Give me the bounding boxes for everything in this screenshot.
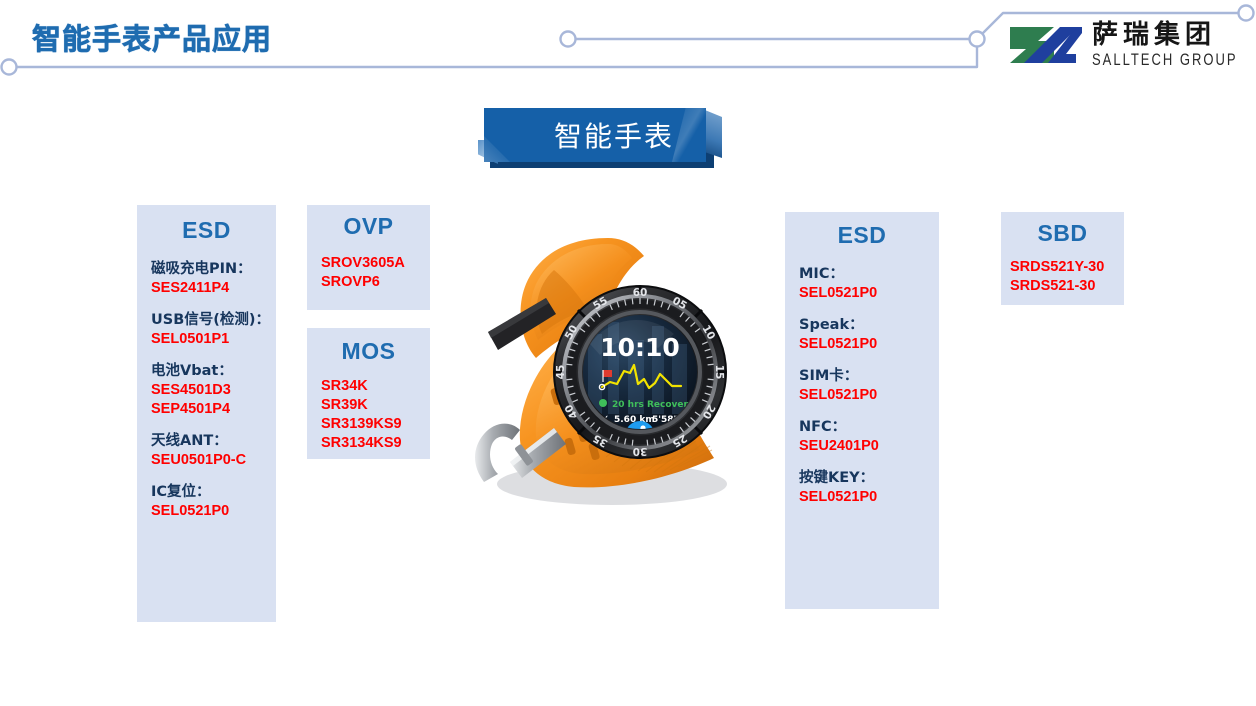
part-number: SEL0521P0 [151, 502, 276, 521]
panel-body: SROV3605A SROVP6 [307, 240, 430, 292]
panel-body: MIC： SEL0521P0 Speak： SEL0521P0 SIM卡： SE… [785, 249, 939, 507]
svg-text:30: 30 [633, 445, 648, 457]
part-group-label: USB信号(检测)： [151, 311, 276, 330]
panel-body: 磁吸充电PIN： SES2411P4 USB信号(检测)： SEL0501P1 … [137, 244, 276, 521]
part-number: SEL0501P1 [151, 330, 276, 349]
part-group-label: 磁吸充电PIN： [151, 260, 276, 279]
panel-title: OVP [307, 205, 430, 240]
part-number: SR34K [321, 377, 430, 396]
part-number: SR3139KS9 [321, 415, 430, 434]
part-number: SEU0501P0-C [151, 451, 276, 470]
svg-text:15: 15 [713, 365, 725, 380]
part-number: SEL0521P0 [799, 386, 939, 405]
deco-node-junction [970, 32, 985, 47]
part-group: 磁吸充电PIN： SES2411P4 [151, 260, 276, 298]
part-group-label: 天线ANT： [151, 432, 276, 451]
part-number: SEU2401P0 [799, 437, 939, 456]
logo-name-en: SALLTECH GROUP [1092, 50, 1242, 70]
watch-face-flag [603, 370, 612, 377]
panel-title: ESD [785, 212, 939, 249]
smartwatch-image: 60 05 10 15 20 25 30 35 40 45 50 55 [462, 222, 752, 522]
part-number: SRDS521Y-30 [1010, 258, 1124, 277]
part-group: SROV3605A SROVP6 [321, 254, 430, 292]
part-group: MIC： SEL0521P0 [799, 265, 939, 303]
part-number: SEL0521P0 [799, 284, 939, 303]
page-title: 智能手表产品应用 [32, 16, 272, 58]
panel-esd-right: ESD MIC： SEL0521P0 Speak： SEL0521P0 SIM卡… [785, 212, 939, 609]
part-group-label: Speak： [799, 316, 939, 335]
part-number: SROV3605A [321, 254, 430, 273]
panel-sbd: SBD SRDS521Y-30 SRDS521-30 [1001, 212, 1124, 305]
part-number: SES2411P4 [151, 279, 276, 298]
deco-node-right [1239, 6, 1254, 21]
part-group-label: IC复位： [151, 483, 276, 502]
deco-node-middle [561, 32, 576, 47]
panel-title: ESD [137, 205, 276, 244]
part-group: NFC： SEU2401P0 [799, 418, 939, 456]
part-group-label: MIC： [799, 265, 939, 284]
part-number: SES4501D3 [151, 381, 276, 400]
part-number: SEP4501P4 [151, 400, 276, 419]
part-group: SRDS521Y-30 SRDS521-30 [1010, 258, 1124, 296]
slide-root: 智能手表产品应用 萨瑞集团 SALLTECH GROUP 智能手表 ESD 磁 [0, 0, 1256, 706]
part-group: Speak： SEL0521P0 [799, 316, 939, 354]
part-group: SR34K SR39K SR3139KS9 SR3134KS9 [321, 377, 430, 453]
logo-name-cn: 萨瑞集团 [1092, 20, 1242, 50]
part-group: IC复位： SEL0521P0 [151, 483, 276, 521]
section-banner: 智能手表 [478, 100, 723, 172]
panel-mos: MOS SR34K SR39K SR3139KS9 SR3134KS9 [307, 328, 430, 459]
watch-face-recovery-icon [599, 399, 607, 407]
part-group-label: 电池Vbat： [151, 362, 276, 381]
part-group-label: 按键KEY： [799, 469, 939, 488]
svg-text:60: 60 [633, 287, 648, 299]
svg-text:45: 45 [555, 365, 567, 380]
part-group: 按键KEY： SEL0521P0 [799, 469, 939, 507]
part-number: SEL0521P0 [799, 335, 939, 354]
panel-body: SR34K SR39K SR3139KS9 SR3134KS9 [307, 365, 430, 453]
panel-title: SBD [1001, 212, 1124, 247]
panel-esd-left: ESD 磁吸充电PIN： SES2411P4 USB信号(检测)： SEL050… [137, 205, 276, 622]
part-number: SRDS521-30 [1010, 277, 1124, 296]
part-group-label: NFC： [799, 418, 939, 437]
part-group: USB信号(检测)： SEL0501P1 [151, 311, 276, 349]
panel-body: SRDS521Y-30 SRDS521-30 [1001, 247, 1124, 296]
part-number: SEL0521P0 [799, 488, 939, 507]
part-group: 电池Vbat： SES4501D3 SEP4501P4 [151, 362, 276, 419]
banner-label: 智能手表 [484, 108, 706, 162]
part-number: SR3134KS9 [321, 434, 430, 453]
panel-title: MOS [307, 328, 430, 365]
panel-ovp: OVP SROV3605A SROVP6 [307, 205, 430, 310]
part-group-label: SIM卡： [799, 367, 939, 386]
part-group: 天线ANT： SEU0501P0-C [151, 432, 276, 470]
part-number: SR39K [321, 396, 430, 415]
part-number: SROVP6 [321, 273, 430, 292]
deco-node-left [2, 60, 17, 75]
watch-face-flag-pole [602, 370, 603, 382]
company-logo: 萨瑞集团 SALLTECH GROUP [1008, 20, 1240, 72]
part-group: SIM卡： SEL0521P0 [799, 367, 939, 405]
salltech-logo-mark [1008, 24, 1084, 66]
logo-text: 萨瑞集团 SALLTECH GROUP [1092, 20, 1242, 66]
